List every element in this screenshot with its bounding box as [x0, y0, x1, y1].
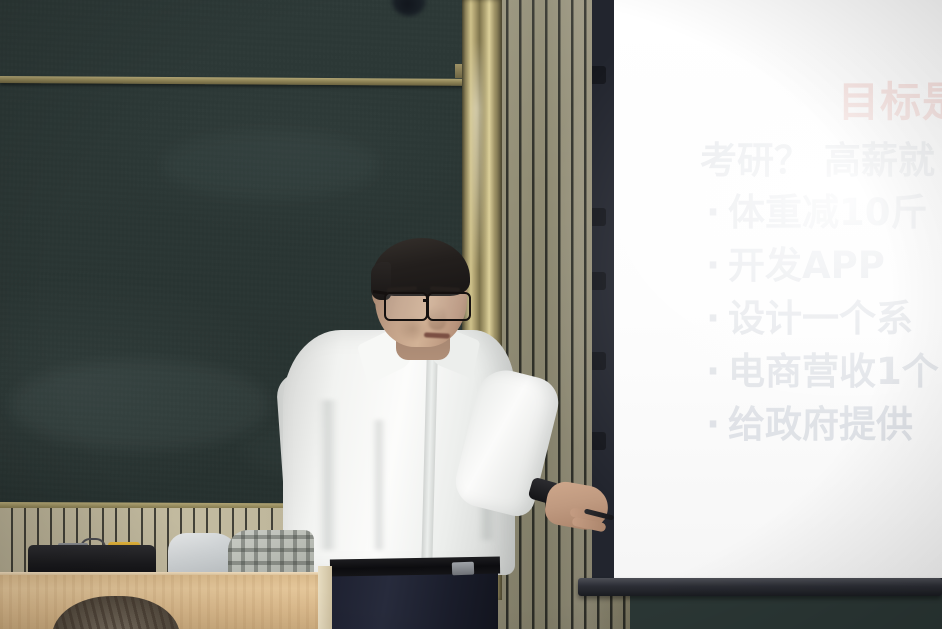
belt-buckle [452, 562, 474, 576]
classroom-photo-scene: 目标是 考研？ 高薪就 ·体重减10斤 ·开发APP ·设计一个系 ·电商营收1… [0, 0, 942, 629]
glasses-lens-right [427, 292, 471, 321]
shirt-fold [318, 400, 338, 550]
presenter-belt [330, 557, 500, 577]
plaid-cloth [228, 530, 314, 578]
glasses-lens-left [384, 292, 428, 321]
presenter [0, 0, 942, 629]
shirt-fold [372, 420, 386, 550]
glasses-bridge [423, 299, 429, 302]
podium-side-cap [318, 566, 332, 629]
